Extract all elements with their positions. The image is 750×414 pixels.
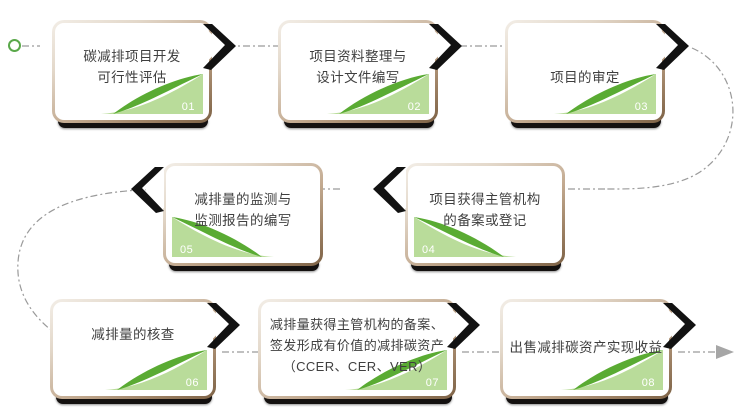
step-label-05: 减排量的监测与 监测报告的编写 <box>163 189 323 231</box>
step-number-02: 02 <box>408 101 421 113</box>
chevron-right-icon-06 <box>207 303 241 349</box>
step-number-06: 06 <box>186 377 199 389</box>
step-number-03: 03 <box>635 101 648 113</box>
start-circle-icon <box>8 39 21 52</box>
step-box-05[interactable]: 05 减排量的监测与 监测报告的编写 <box>163 163 323 266</box>
step-label-03: 项目的审定 <box>505 67 665 88</box>
step-label-07: 减排量获得主管机构的备案、 签发形成有价值的减排碳资产 （CCER、CER、VE… <box>258 314 456 377</box>
step-box-02[interactable]: 02 项目资料整理与 设计文件编写 <box>278 20 438 123</box>
step-number-01: 01 <box>182 101 195 113</box>
step-number-07: 07 <box>426 377 439 389</box>
arrow-head-icon <box>716 345 734 359</box>
chevron-right-icon-02 <box>429 24 463 70</box>
step-label-04: 项目获得主管机构 的备案或登记 <box>405 189 565 231</box>
chevron-left-icon-05 <box>130 167 164 213</box>
chevron-left-icon-04 <box>372 167 406 213</box>
step-label-08: 出售减排碳资产实现收益 <box>500 337 672 358</box>
step-box-08[interactable]: 08 出售减排碳资产实现收益 <box>500 299 672 399</box>
chevron-right-icon-08 <box>663 303 697 349</box>
chevron-right-icon-01 <box>203 24 237 70</box>
step-box-01[interactable]: 01 碳减排项目开发 可行性评估 <box>52 20 212 123</box>
step-number-08: 08 <box>642 377 655 389</box>
step-box-07[interactable]: 07 减排量获得主管机构的备案、 签发形成有价值的减排碳资产 （CCER、CER… <box>258 299 456 399</box>
step-label-06: 减排量的核查 <box>50 324 216 345</box>
flowchart-canvas: 01 碳减排项目开发 可行性评估 02 项目资料整理与 设计文件编写 <box>0 0 750 414</box>
step-label-02: 项目资料整理与 设计文件编写 <box>278 46 438 88</box>
chevron-right-icon-03 <box>656 24 690 70</box>
step-label-01: 碳减排项目开发 可行性评估 <box>52 46 212 88</box>
step-frame: 06 <box>50 299 216 399</box>
step-inner: 06 <box>53 302 213 396</box>
step-number-05: 05 <box>180 244 193 256</box>
step-box-06[interactable]: 06 减排量的核查 <box>50 299 216 399</box>
step-box-03[interactable]: 03 项目的审定 <box>505 20 665 123</box>
step-number-04: 04 <box>422 244 435 256</box>
step-box-04[interactable]: 04 项目获得主管机构 的备案或登记 <box>405 163 565 266</box>
chevron-right-icon-07 <box>447 303 481 349</box>
